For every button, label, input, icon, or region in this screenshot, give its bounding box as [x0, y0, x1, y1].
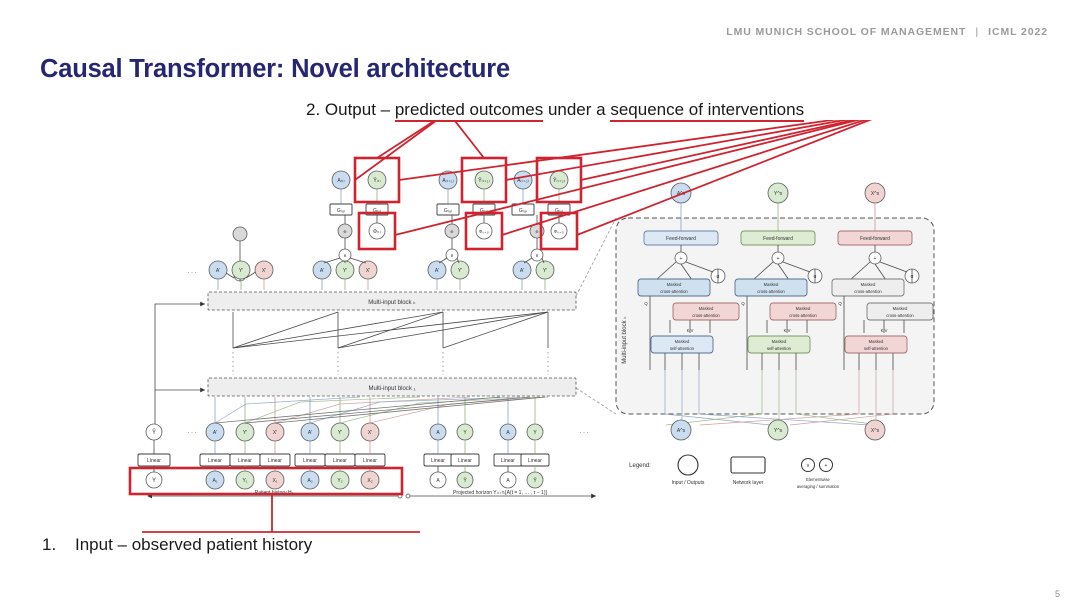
svg-text:X': X' — [368, 430, 372, 436]
svg-text:Y': Y' — [343, 268, 347, 274]
svg-text:Y': Y' — [243, 430, 247, 436]
svg-text:Linear: Linear — [303, 458, 317, 464]
svg-text:A': A' — [435, 268, 439, 274]
svg-text:A': A' — [320, 268, 324, 274]
mid-nodes: ∨ A' Y' X' — [209, 227, 273, 290]
svg-text:· · ·: · · · — [187, 270, 196, 276]
callout-output-prefix: 2. Output – — [306, 100, 395, 119]
svg-text:A^s: A^s — [677, 428, 686, 434]
svg-text:A': A' — [308, 430, 312, 436]
svg-text:A₍ₜ₎: A₍ₜ₎ — [337, 178, 344, 184]
svg-text:Linear: Linear — [501, 458, 515, 464]
svg-text:Ŷ: Ŷ — [152, 429, 156, 436]
callout-output: 2. Output – predicted outcomes under a s… — [306, 100, 804, 120]
svg-text:Y': Y' — [543, 268, 547, 274]
header-separator: | — [966, 26, 988, 38]
svg-text:⊕: ⊕ — [450, 229, 454, 234]
svg-text:A₍ₜ₊₂₎: A₍ₜ₊₂₎ — [517, 178, 529, 184]
svg-text:Y': Y' — [239, 268, 243, 274]
svg-text:Φ₍ₜ₊₁₎: Φ₍ₜ₊₁₎ — [479, 229, 489, 234]
svg-text:A': A' — [520, 268, 524, 274]
svg-text:X': X' — [262, 268, 266, 274]
output-column-1: A' Y' X' ∨ ⊕ G₍ₐ₎ G₍ᵧ₎ A₍ₜ₎ Ŷ₍ₜ₎ — [313, 171, 388, 290]
header-institution: LMU MUNICH SCHOOL OF MANAGEMENT — [726, 26, 966, 38]
svg-text:Y^s: Y^s — [774, 191, 783, 197]
multi-input-block-bottom[interactable] — [208, 378, 576, 396]
legend-region — [636, 450, 866, 496]
svg-text:Linear: Linear — [528, 458, 542, 464]
svg-text:Φ₍ₜ₊₂₎: Φ₍ₜ₊₂₎ — [554, 229, 564, 234]
svg-text:Linear: Linear — [458, 458, 472, 464]
svg-text:∨: ∨ — [535, 253, 539, 259]
svg-text:Linear: Linear — [238, 458, 252, 464]
svg-text:Y^s: Y^s — [774, 428, 783, 434]
svg-text:Ŷ₍ₜ₎: Ŷ₍ₜ₎ — [373, 177, 380, 184]
svg-text:A': A' — [216, 268, 220, 274]
svg-text:Linear: Linear — [363, 458, 377, 464]
svg-text:Φ₍ₜ₎: Φ₍ₜ₎ — [373, 229, 381, 235]
multi-input-block-inset-region[interactable] — [616, 218, 934, 414]
svg-text:· · ·: · · · — [579, 430, 588, 436]
svg-text:Linear: Linear — [333, 458, 347, 464]
svg-text:Y': Y' — [338, 430, 342, 436]
svg-text:X^s: X^s — [871, 191, 880, 197]
multi-input-block-top[interactable] — [208, 292, 576, 310]
callout-output-underline-2: sequence of interventions — [610, 100, 804, 122]
slide-header: LMU MUNICH SCHOOL OF MANAGEMENT|ICML 202… — [726, 26, 1048, 38]
svg-text:· · ·: · · · — [187, 430, 196, 436]
svg-text:∨: ∨ — [343, 253, 347, 259]
slide-root: LMU MUNICH SCHOOL OF MANAGEMENT|ICML 202… — [0, 0, 1080, 607]
svg-text:Ŷ₍ₜ₊₁₎: Ŷ₍ₜ₊₁₎ — [478, 177, 490, 184]
callout-output-middle: under a — [543, 100, 610, 119]
svg-text:Projected horizon Y₍ₜ₊τ₎[A(t =: Projected horizon Y₍ₜ₊τ₎[A(t = 1, … , τ … — [453, 490, 547, 496]
svg-text:⊕: ⊕ — [343, 229, 347, 234]
header-venue: ICML 2022 — [988, 26, 1048, 38]
page-title: Causal Transformer: Novel architecture — [40, 55, 510, 84]
svg-text:⊕: ⊕ — [535, 229, 539, 234]
svg-text:Linear: Linear — [208, 458, 222, 464]
svg-text:Linear: Linear — [431, 458, 445, 464]
svg-text:X': X' — [273, 430, 277, 436]
architecture-figure: .ln{stroke:#4a4a4a;stroke-width:.8;fill:… — [0, 120, 1080, 540]
svg-text:G₍ₐ₎: G₍ₐ₎ — [519, 208, 527, 214]
svg-text:X^s: X^s — [871, 428, 880, 434]
projected-horizon-group: A Y Linear Linear A Ŷ A Y Linear Linear … — [424, 424, 549, 488]
svg-text:G₍ₐ₎: G₍ₐ₎ — [337, 208, 345, 214]
svg-text:A': A' — [213, 430, 217, 436]
callout-output-underline-1: predicted outcomes — [395, 100, 543, 122]
svg-text:Y': Y' — [458, 268, 462, 274]
page-number: 5 — [1055, 589, 1060, 599]
svg-text:∨: ∨ — [450, 253, 454, 259]
svg-text:Linear: Linear — [268, 458, 282, 464]
svg-text:Linear: Linear — [147, 458, 161, 464]
svg-text:G₍ₐ₎: G₍ₐ₎ — [444, 208, 452, 214]
svg-text:Ŷ₍ₜ₊₂₎: Ŷ₍ₜ₊₂₎ — [553, 177, 565, 184]
patient-history-highlight-box[interactable] — [130, 468, 402, 494]
svg-text:X': X' — [366, 268, 370, 274]
svg-text:A₍ₜ₊₁₎: A₍ₜ₊₁₎ — [442, 178, 454, 184]
